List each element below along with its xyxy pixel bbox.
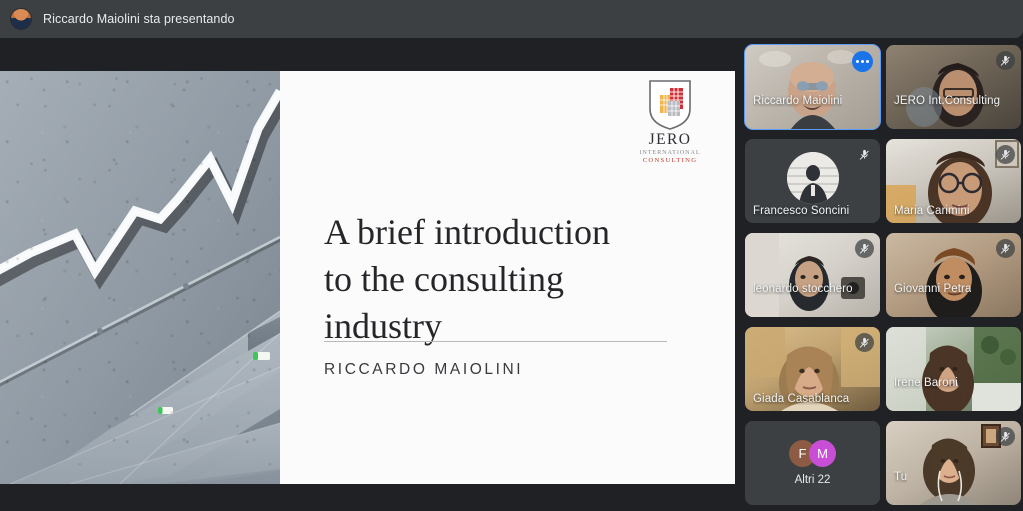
jero-logo: JERO INTERNATIONAL CONSULTING: [637, 79, 703, 164]
participant-name: Giovanni Petra: [894, 283, 971, 295]
more-options-icon[interactable]: [852, 51, 873, 72]
slide-author: RICCARDO MAIOLINI: [324, 361, 523, 379]
stairs-graphic-icon: [0, 71, 280, 484]
slide-photo: [0, 71, 280, 484]
mic-muted-icon: [855, 333, 874, 352]
slide-title: A brief introduction to the consulting i…: [324, 209, 692, 350]
participant-name: JERO Int.Consulting: [894, 95, 1000, 107]
logo-name: JERO: [637, 132, 703, 148]
slide-title-line-1: A brief introduction: [324, 209, 692, 256]
slide-content: JERO INTERNATIONAL CONSULTING A brief in…: [280, 71, 735, 484]
participant-tile-maria-carimini[interactable]: Maria Carimini: [886, 139, 1021, 223]
slide-divider: [324, 341, 667, 342]
mic-muted-icon: [996, 239, 1015, 258]
participant-tile-leonardo-stocchero[interactable]: leonardo stocchero: [745, 233, 880, 317]
participant-name: Francesco Soncini: [753, 205, 849, 217]
participant-name: Riccardo Maiolini: [753, 95, 842, 107]
participant-name: leonardo stocchero: [753, 283, 853, 295]
participant-name: Irene Baroni: [894, 377, 958, 389]
overflow-avatars: F M: [789, 440, 836, 467]
presenter-avatar-icon: [10, 8, 32, 30]
meeting-screen: Riccardo Maiolini sta presentando: [0, 0, 1023, 511]
slide-title-line-2: to the consulting: [324, 256, 692, 303]
self-view-label: Tu: [894, 471, 907, 483]
self-view-tile[interactable]: Tu: [886, 421, 1021, 505]
video-feed: [886, 327, 1021, 411]
mic-muted-icon: [996, 51, 1015, 70]
overflow-inner: F M Altri 22: [745, 421, 880, 505]
logo-subtitle-consulting: CONSULTING: [637, 158, 703, 165]
overflow-label: Altri 22: [795, 474, 831, 486]
slide-title-line-3: industry: [324, 303, 692, 350]
avatar: [787, 152, 839, 204]
participant-tile-francesco-soncini[interactable]: Francesco Soncini: [745, 139, 880, 223]
presenting-status-text: Riccardo Maiolini sta presentando: [43, 12, 235, 26]
participant-tile-giada-casablanca[interactable]: Giada Casablanca: [745, 327, 880, 411]
shared-slide: JERO INTERNATIONAL CONSULTING A brief in…: [0, 71, 735, 484]
participant-tile-riccardo-maiolini[interactable]: Riccardo Maiolini: [745, 45, 880, 129]
participant-tile-jero-int-consulting[interactable]: JERO Int.Consulting: [886, 45, 1021, 129]
logo-subtitle-international: INTERNATIONAL: [637, 150, 703, 156]
mic-muted-icon: [996, 427, 1015, 446]
overflow-avatar-2: M: [809, 440, 836, 467]
presenting-status-bar: Riccardo Maiolini sta presentando: [0, 0, 1023, 38]
mic-muted-icon: [855, 239, 874, 258]
overflow-participants-tile[interactable]: F M Altri 22: [745, 421, 880, 505]
participant-name: Maria Carimini: [894, 205, 970, 217]
presentation-stage[interactable]: JERO INTERNATIONAL CONSULTING A brief in…: [0, 38, 741, 511]
participant-tile-irene-baroni[interactable]: Irene Baroni: [886, 327, 1021, 411]
mic-muted-icon: [855, 145, 874, 164]
participant-name: Giada Casablanca: [753, 393, 849, 405]
participant-tile-giovanni-petra[interactable]: Giovanni Petra: [886, 233, 1021, 317]
jero-shield-icon: [648, 79, 692, 131]
mic-muted-icon: [996, 145, 1015, 164]
participant-rail: Riccardo Maiolini JERO Int: [745, 45, 1023, 511]
